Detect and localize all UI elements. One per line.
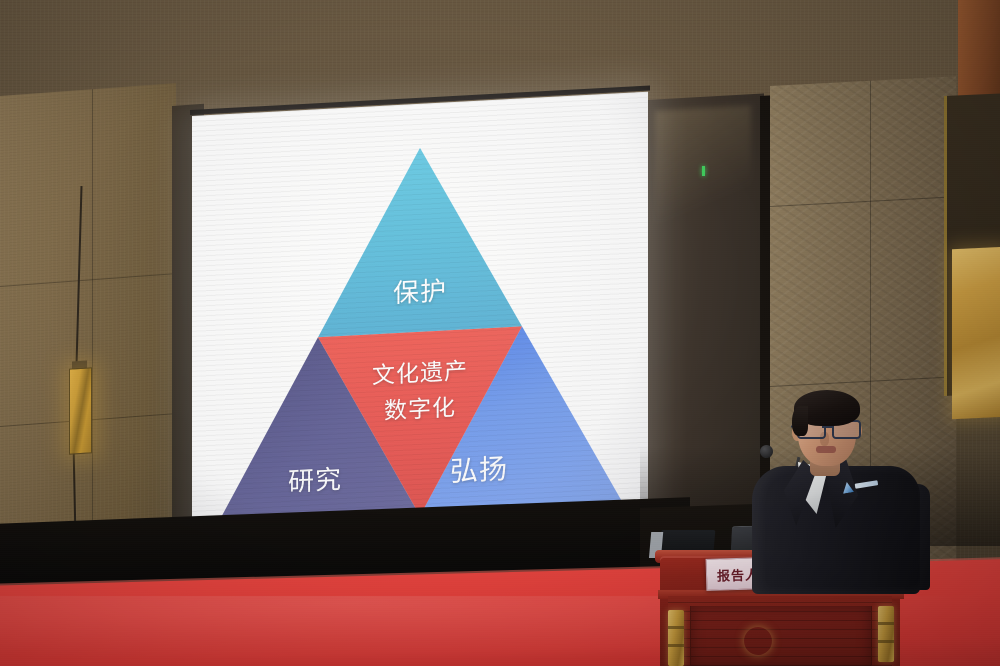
- podium-gold-column-right: [878, 606, 894, 662]
- projection-screen: 保护 文化遗产 数字化 研究 弘扬: [192, 92, 648, 542]
- center-label-line-1: 文化遗产: [372, 354, 468, 395]
- triangle-center-label: 文化遗产 数字化: [372, 354, 468, 430]
- podium-front-panel: [690, 606, 872, 666]
- triangle-top-label: 保护: [393, 270, 447, 310]
- triangle-right-label: 弘扬: [450, 447, 508, 490]
- podium-emblem-icon: [744, 627, 772, 655]
- gold-ring: [668, 626, 684, 629]
- gold-decorative-panel: [952, 247, 1000, 419]
- gold-ring: [878, 640, 894, 643]
- speaker-person: [744, 388, 934, 588]
- gold-ring: [878, 622, 894, 625]
- triangle-diagram: [192, 92, 648, 542]
- gold-ring: [668, 644, 684, 647]
- podium-gold-column-left: [668, 610, 684, 666]
- conference-photo: 保护 文化遗产 数字化 研究 弘扬: [0, 0, 1000, 666]
- speaker-mouth: [816, 446, 836, 453]
- center-label-line-2: 数字化: [372, 390, 468, 431]
- presentation-slide: 保护 文化遗产 数字化 研究 弘扬: [192, 92, 648, 542]
- logo-triangle-icon: [841, 481, 854, 494]
- status-led-icon: [702, 166, 705, 176]
- logo-wordmark: [855, 480, 878, 489]
- wall-sconce-light: [69, 367, 92, 454]
- podium-panel-grooves: [691, 606, 871, 666]
- speaker-hair-side: [792, 406, 808, 436]
- glasses-bridge: [822, 426, 834, 428]
- triangle-left-label: 研究: [288, 459, 342, 499]
